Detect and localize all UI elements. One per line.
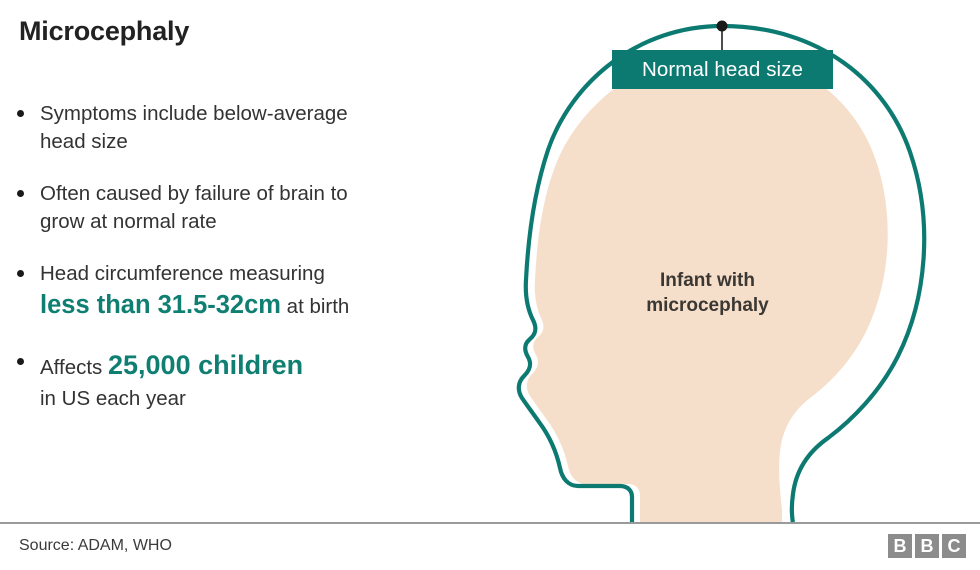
source-note: Source: ADAM, WHO [19, 537, 172, 555]
callout-normal-head-size: Normal head size [612, 50, 833, 89]
bullet-dot-icon [17, 270, 24, 277]
page-title: Microcephaly [19, 16, 189, 47]
list-item-line: less than 31.5-32cm at birth [40, 288, 484, 324]
callout-anchor-dot [717, 21, 728, 32]
list-item: Symptoms include below-average head size [14, 100, 484, 156]
facts-list: Symptoms include below-average head size… [14, 100, 484, 413]
bbc-logo-letter-2: B [915, 534, 939, 558]
bbc-logo-letter-3: C [942, 534, 966, 558]
bbc-logo-letter-1: B [888, 534, 912, 558]
list-item-line: Often caused by failure of brain to [40, 180, 484, 208]
list-item-line: Affects 25,000 children [40, 348, 484, 385]
highlight-suffix: at birth [281, 295, 349, 318]
list-item: Often caused by failure of brain to grow… [14, 180, 484, 236]
list-item-line: Symptoms include below-average [40, 100, 484, 128]
list-item-affected-count: Affects 25,000 children in US each year [14, 348, 484, 413]
bullet-dot-icon [17, 358, 24, 365]
highlight-count: 25,000 children [108, 350, 303, 380]
head-caption: Infant with microcephaly [600, 268, 815, 318]
bullet-dot-icon [17, 110, 24, 117]
infographic-canvas: Microcephaly Symptoms include below-aver… [0, 0, 980, 570]
head-caption-line-2: microcephaly [646, 295, 769, 316]
list-item-line: in US each year [40, 385, 484, 413]
footer-divider [0, 522, 980, 524]
highlight-prefix: Affects [40, 356, 108, 379]
bbc-logo: B B C [888, 534, 966, 558]
list-item-line: Head circumference measuring [40, 260, 484, 288]
list-item-line: grow at normal rate [40, 208, 484, 236]
list-item-head-circumference: Head circumference measuring less than 3… [14, 260, 484, 324]
list-item-line: head size [40, 128, 484, 156]
bullet-dot-icon [17, 190, 24, 197]
callout-label: Normal head size [642, 58, 803, 82]
head-caption-line-1: Infant with [660, 270, 755, 291]
highlight-measurement: less than 31.5-32cm [40, 291, 281, 319]
